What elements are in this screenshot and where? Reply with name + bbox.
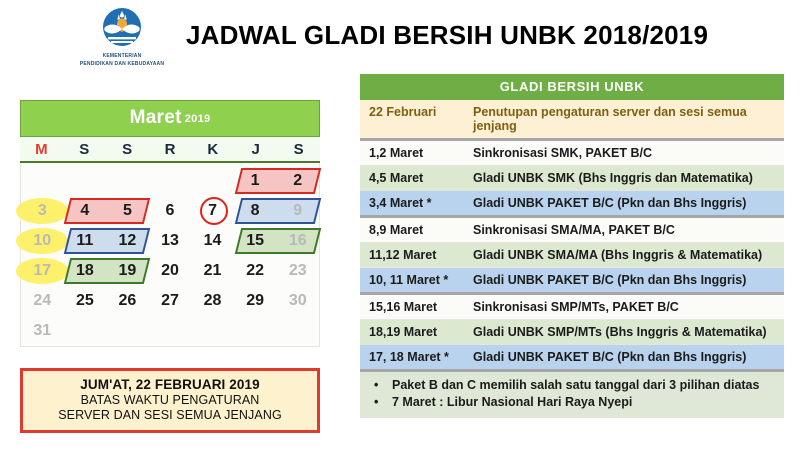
table-cell-activity: Gladi UNBK SMP/MTs (Bhs Inggris & Matema…	[464, 320, 784, 344]
day-header-kamis: K	[191, 141, 234, 158]
table-cell-date: 15,16 Maret	[360, 295, 464, 319]
table-cell-date: 3,4 Maret *	[360, 191, 464, 215]
calendar-day-20[interactable]: 20	[149, 256, 192, 286]
table-cell-activity: Gladi UNBK SMA/MA (Bhs Inggris & Matemat…	[464, 243, 784, 267]
table-cell-date: 8,9 Maret	[360, 218, 464, 242]
slide-canvas: KEMENTERIAN PENDIDIKAN DAN KEBUDAYAAN JA…	[0, 0, 800, 467]
calendar-cell-empty	[21, 166, 64, 196]
schedule-table: GLADI BERSIH UNBK 22 FebruariPenutupan p…	[360, 74, 784, 418]
calendar-day-25[interactable]: 25	[64, 286, 107, 316]
calendar-day-1[interactable]: 1	[234, 166, 277, 196]
calendar-day-7[interactable]: 7	[191, 196, 234, 226]
table-row: 11,12 MaretGladi UNBK SMA/MA (Bhs Inggri…	[360, 243, 784, 268]
calendar-day-31[interactable]: 31	[21, 316, 64, 346]
calendar-day-28[interactable]: 28	[191, 286, 234, 316]
tut-wuri-handayani-logo-icon	[97, 6, 147, 52]
table-row: 4,5 MaretGladi UNBK SMK (Bhs Inggris dan…	[360, 166, 784, 191]
table-cell-activity: Gladi UNBK PAKET B/C (Pkn dan Bhs Inggri…	[464, 268, 784, 292]
calendar-day-26[interactable]: 26	[106, 286, 149, 316]
notice-line-2: BATAS WAKTU PENGATURAN	[27, 393, 313, 407]
table-cell-date: 18,19 Maret	[360, 320, 464, 344]
calendar-cell-empty	[234, 316, 277, 346]
notice-line-1: JUM'AT, 22 FEBRUARI 2019	[27, 377, 313, 392]
calendar-day-27[interactable]: 27	[149, 286, 192, 316]
schedule-table-header: GLADI BERSIH UNBK	[360, 74, 784, 100]
calendar-day-16[interactable]: 16	[276, 226, 319, 256]
calendar-day-29[interactable]: 29	[234, 286, 277, 316]
table-cell-activity: Sinkronisasi SMA/MA, PAKET B/C	[464, 218, 784, 242]
table-cell-activity: Gladi UNBK PAKET B/C (Pkn dan Bhs Inggri…	[464, 345, 784, 369]
calendar-day-30[interactable]: 30	[276, 286, 319, 316]
calendar-day-2[interactable]: 2	[276, 166, 319, 196]
table-cell-date: 10, 11 Maret *	[360, 268, 464, 292]
calendar-day-15[interactable]: 15	[234, 226, 277, 256]
table-row: 10, 11 Maret *Gladi UNBK PAKET B/C (Pkn …	[360, 268, 784, 295]
calendar-day-24[interactable]: 24	[21, 286, 64, 316]
calendar-day-23[interactable]: 23	[276, 256, 319, 286]
calendar-cell-empty	[106, 316, 149, 346]
table-cell-activity: Sinkronisasi SMP/MTs, PAKET B/C	[464, 295, 784, 319]
page-title: JADWAL GLADI BERSIH UNBK 2018/2019	[186, 20, 706, 51]
table-note: •7 Maret : Libur Nasional Hari Raya Nyep…	[374, 394, 784, 411]
table-cell-activity: Gladi UNBK SMK (Bhs Inggris dan Matemati…	[464, 166, 784, 190]
calendar-day-5[interactable]: 5	[106, 196, 149, 226]
calendar-day-19[interactable]: 19	[106, 256, 149, 286]
ministry-logo-block: KEMENTERIAN PENDIDIKAN DAN KEBUDAYAAN	[62, 6, 182, 67]
calendar-cell-empty	[276, 316, 319, 346]
table-cell-activity: Sinkronisasi SMK, PAKET B/C	[464, 141, 784, 165]
table-row: 18,19 MaretGladi UNBK SMP/MTs (Bhs Inggr…	[360, 320, 784, 345]
calendar-day-18[interactable]: 18	[64, 256, 107, 286]
day-header-rabu: R	[149, 141, 192, 158]
table-row: 15,16 MaretSinkronisasi SMP/MTs, PAKET B…	[360, 295, 784, 320]
calendar-cell-empty	[191, 166, 234, 196]
calendar-day-8[interactable]: 8	[234, 196, 277, 226]
bullet-icon: •	[374, 377, 392, 394]
calendar-day-6[interactable]: 6	[149, 196, 192, 226]
table-cell-date: 17, 18 Maret *	[360, 345, 464, 369]
table-note-text: 7 Maret : Libur Nasional Hari Raya Nyepi	[392, 394, 632, 411]
schedule-table-notes: •Paket B dan C memilih salah satu tangga…	[360, 372, 784, 418]
day-header-sabtu: S	[277, 141, 320, 158]
calendar-title: Maret2019	[20, 100, 320, 137]
calendar-cell-empty	[149, 316, 192, 346]
table-cell-date: 1,2 Maret	[360, 141, 464, 165]
day-header-jumat: J	[234, 141, 277, 158]
day-header-senin: S	[63, 141, 106, 158]
calendar-day-22[interactable]: 22	[234, 256, 277, 286]
calendar-grid: 1234567891011121314151617181920212223242…	[20, 163, 320, 347]
table-cell-date: 4,5 Maret	[360, 166, 464, 190]
calendar-year-label: 2019	[185, 113, 211, 125]
table-row: 3,4 Maret *Gladi UNBK PAKET B/C (Pkn dan…	[360, 191, 784, 218]
calendar-cell-empty	[191, 316, 234, 346]
calendar-cell-empty	[149, 166, 192, 196]
calendar-day-headers: M S S R K J S	[20, 137, 320, 163]
logo-caption-line1: KEMENTERIAN	[62, 53, 182, 60]
deadline-notice-box: JUM'AT, 22 FEBRUARI 2019 BATAS WAKTU PEN…	[20, 368, 320, 433]
bullet-icon: •	[374, 394, 392, 411]
table-note-text: Paket B dan C memilih salah satu tanggal…	[392, 377, 759, 394]
table-cell-date: 11,12 Maret	[360, 243, 464, 267]
table-row: 1,2 MaretSinkronisasi SMK, PAKET B/C	[360, 141, 784, 166]
calendar-day-11[interactable]: 11	[64, 226, 107, 256]
schedule-table-body: 22 FebruariPenutupan pengaturan server d…	[360, 100, 784, 372]
table-note: •Paket B dan C memilih salah satu tangga…	[374, 377, 784, 394]
table-row: 22 FebruariPenutupan pengaturan server d…	[360, 100, 784, 141]
calendar-day-12[interactable]: 12	[106, 226, 149, 256]
calendar-day-3[interactable]: 3	[21, 196, 64, 226]
day-header-minggu: M	[20, 141, 63, 158]
calendar-day-17[interactable]: 17	[21, 256, 64, 286]
calendar-day-4[interactable]: 4	[64, 196, 107, 226]
calendar-day-21[interactable]: 21	[191, 256, 234, 286]
table-cell-activity: Penutupan pengaturan server dan sesi sem…	[464, 100, 784, 138]
calendar-day-14[interactable]: 14	[191, 226, 234, 256]
calendar-day-13[interactable]: 13	[149, 226, 192, 256]
calendar-cell-empty	[64, 316, 107, 346]
calendar-month-label: Maret	[130, 107, 182, 128]
notice-line-3: SERVER DAN SESI SEMUA JENJANG	[27, 408, 313, 422]
table-row: 8,9 MaretSinkronisasi SMA/MA, PAKET B/C	[360, 218, 784, 243]
table-row: 17, 18 Maret *Gladi UNBK PAKET B/C (Pkn …	[360, 345, 784, 372]
march-calendar: Maret2019 M S S R K J S 1234567891011121…	[20, 100, 320, 347]
logo-caption-line2: PENDIDIKAN DAN KEBUDAYAAN	[62, 61, 182, 68]
calendar-day-9[interactable]: 9	[276, 196, 319, 226]
calendar-day-10[interactable]: 10	[21, 226, 64, 256]
table-cell-date: 22 Februari	[360, 100, 464, 138]
day-header-selasa: S	[106, 141, 149, 158]
calendar-cell-empty	[106, 166, 149, 196]
table-cell-activity: Gladi UNBK PAKET B/C (Pkn dan Bhs Inggri…	[464, 191, 784, 215]
calendar-cell-empty	[64, 166, 107, 196]
